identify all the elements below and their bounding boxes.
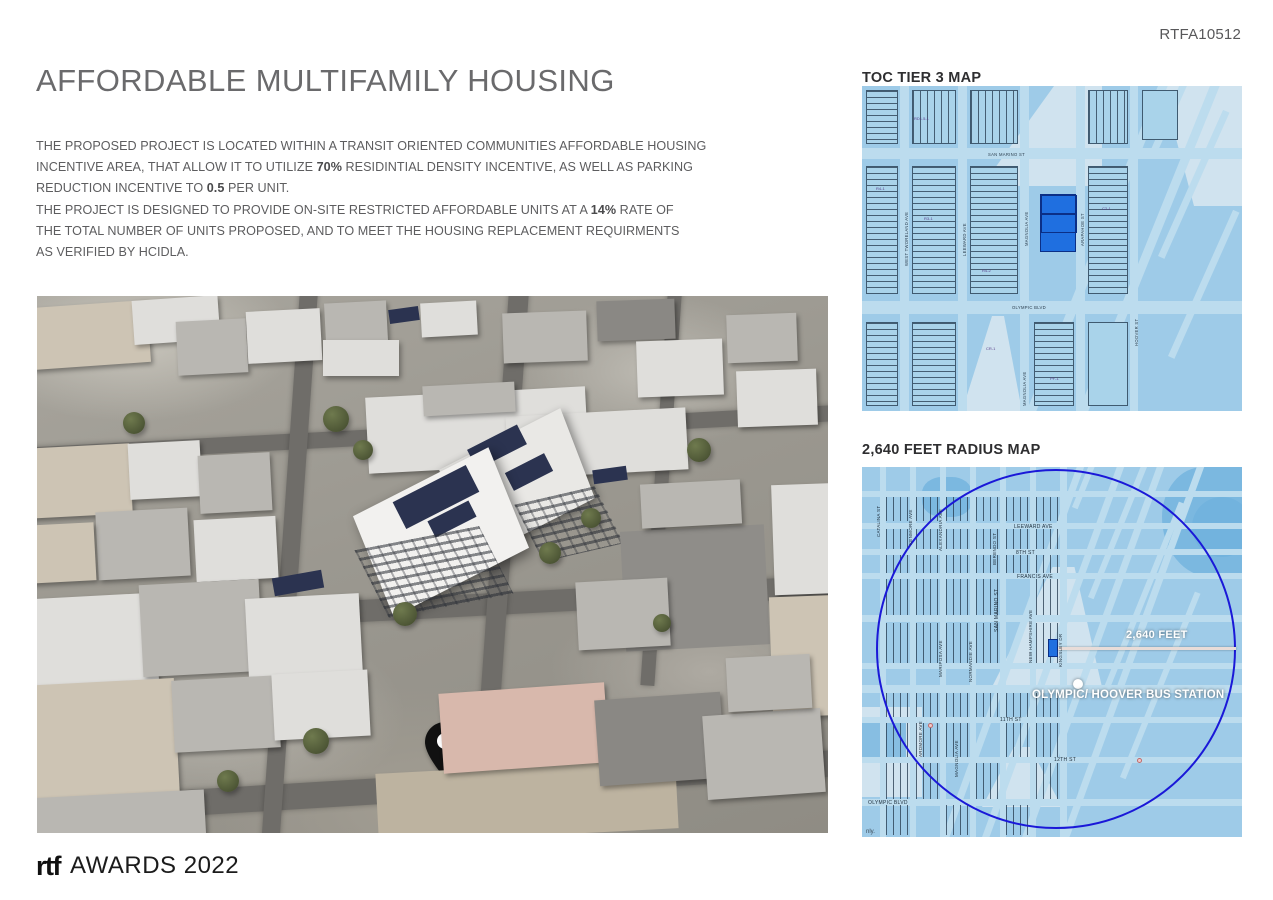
radius-street-label: 8TH ST — [1016, 550, 1035, 556]
aerial-building — [37, 522, 96, 584]
aerial-building — [771, 483, 828, 595]
radius-map: 2,640 FEET OLYMPIC/ HOOVER BUS STATION L… — [862, 467, 1242, 837]
aerial-building — [726, 313, 798, 363]
page-title: AFFORDABLE MULTIFAMILY HOUSING — [36, 63, 615, 99]
toc-zone-code: RD1.5-1 — [914, 116, 929, 121]
toc-lot-lines — [1089, 91, 1127, 143]
toc-street-label: HOOVER ST — [1134, 319, 1139, 346]
radius-street-label: BERENDO ST — [992, 533, 997, 565]
toc-lot-lines — [1035, 323, 1073, 405]
aerial-adjacent-roof — [422, 382, 515, 417]
aerial-site-photo — [37, 296, 828, 833]
toc-parcel-block — [1142, 90, 1178, 140]
aerial-building — [726, 654, 813, 712]
radius-street-label: KENMORE AVE — [908, 509, 913, 545]
affordable-rate-value: 14% — [591, 203, 616, 217]
toc-zone-code: R3-1 — [924, 216, 933, 221]
radius-street-label: SAN MARINO ST — [994, 589, 1000, 632]
aerial-tree — [123, 412, 145, 434]
aerial-building — [37, 443, 133, 518]
toc-lot-lines — [867, 91, 897, 143]
description-line-4: THE PROJECT IS DESIGNED TO PROVIDE ON-SI… — [36, 200, 736, 221]
toc-zone-code: PF-1 — [1050, 376, 1059, 381]
radius-street-label: NEW HAMPSHIRE AVE — [1028, 610, 1033, 663]
presentation-board: RTFA10512 AFFORDABLE MULTIFAMILY HOUSING… — [0, 0, 1273, 900]
toc-street-label: MAGNOLIA AVE — [1022, 372, 1027, 406]
radius-lot-lines — [886, 529, 910, 549]
radius-street-label: MAGNOLIA AVE — [954, 740, 959, 777]
aerial-tree — [539, 542, 561, 564]
toc-lot-lines — [971, 91, 1017, 143]
aerial-building — [128, 440, 203, 500]
aerial-building — [502, 311, 588, 364]
toc-street-label: LEEWARD AVE — [962, 223, 967, 256]
aerial-tree — [687, 438, 711, 462]
radius-distance-label: 2,640 FEET — [1126, 629, 1188, 641]
aerial-tree — [323, 406, 349, 432]
aerial-building — [736, 369, 818, 428]
toc-lot-lines — [867, 323, 897, 405]
radius-street-label: LEEWARD AVE — [1014, 524, 1053, 530]
toc-map-pale-area — [962, 316, 1022, 411]
radius-street-label: MARIPOSA AVE — [938, 640, 943, 677]
toc-street-olympic — [862, 301, 1242, 314]
toc-parcel-block — [1088, 322, 1128, 406]
radius-street-label: NORMANDIE AVE — [968, 641, 973, 682]
radius-lot-lines — [886, 763, 910, 799]
description-line-1: THE PROPOSED PROJECT IS LOCATED WITHIN A… — [36, 136, 736, 157]
aerial-building — [575, 578, 670, 651]
rtf-logo: rtf — [36, 853, 60, 880]
aerial-building — [176, 318, 249, 376]
toc-street-label: MAGNOLIA AVE — [1024, 212, 1029, 246]
radius-map-canvas: 2,640 FEET OLYMPIC/ HOOVER BUS STATION L… — [862, 467, 1242, 837]
aerial-tree — [393, 602, 417, 626]
radius-street-label: 11TH ST — [1000, 717, 1022, 723]
radius-street-label: 12TH ST — [1054, 757, 1076, 763]
radius-street-label: ARDMORE AVE — [918, 721, 923, 757]
toc-lot-lines — [971, 167, 1017, 293]
project-description: THE PROPOSED PROJECT IS LOCATED WITHIN A… — [36, 136, 736, 263]
map-attribution: nly. — [866, 829, 875, 835]
radius-measure-line — [1058, 647, 1236, 650]
aerial-building — [596, 299, 675, 342]
radius-lot-lines — [886, 805, 910, 835]
toc-street-vertical — [1076, 86, 1085, 411]
radius-street-label: ALEXANDRIA AVE — [938, 509, 943, 551]
aerial-building — [702, 708, 826, 800]
radius-poi-marker-icon — [928, 723, 933, 728]
toc-street-vertical — [1130, 86, 1138, 411]
aerial-building-pink — [438, 682, 609, 773]
toc-street-label: SAN MARINO ST — [988, 152, 1025, 157]
parking-ratio-value: 0.5 — [207, 181, 225, 195]
radius-street-label: FRANCIS AVE — [1017, 574, 1053, 580]
density-incentive-value: 70% — [317, 160, 342, 174]
aerial-building — [636, 339, 724, 398]
aerial-tree — [303, 728, 329, 754]
toc-street-label: ARAPAHOE ST — [1080, 213, 1085, 246]
document-id: RTFA10512 — [1159, 26, 1241, 43]
toc-lot-lines — [913, 323, 955, 405]
bus-station-label: OLYMPIC/ HOOVER BUS STATION — [1032, 689, 1224, 701]
awards-text: AWARDS 2022 — [70, 852, 239, 880]
aerial-building — [420, 301, 478, 338]
footer: rtf AWARDS 2022 — [36, 852, 239, 880]
toc-street-vertical — [1020, 86, 1029, 411]
aerial-tree — [653, 614, 671, 632]
radius-street-label: KINGSLEY DR — [1058, 634, 1063, 667]
toc-street-diagonal — [1168, 210, 1239, 359]
description-line-3: REDUCTION INCENTIVE TO 0.5 PER UNIT. — [36, 178, 736, 199]
aerial-tree — [217, 770, 239, 792]
toc-zone-code: C2-1 — [1102, 206, 1111, 211]
aerial-building — [139, 579, 264, 677]
description-line-2: INCENTIVE AREA, THAT ALLOW IT TO UTILIZE… — [36, 157, 736, 178]
aerial-building-large — [37, 678, 180, 806]
description-line-5: THE TOTAL NUMBER OF UNITS PROPOSED, AND … — [36, 221, 736, 242]
aerial-tree — [353, 440, 373, 460]
aerial-building — [323, 340, 399, 376]
aerial-building — [198, 452, 273, 514]
toc-street-label: OLYMPIC BLVD — [1012, 305, 1046, 310]
aerial-building — [37, 789, 206, 833]
toc-street-label: WEST TWORELAND AVE — [904, 212, 909, 266]
aerial-building — [246, 308, 323, 364]
bus-station-marker-icon[interactable] — [1073, 679, 1083, 689]
toc-map-canvas: SAN MARINO ST OLYMPIC BLVD WEST TWORELAN… — [862, 86, 1242, 411]
project-parcel-highlight[interactable] — [1040, 194, 1076, 252]
radius-lot-lines — [946, 805, 970, 835]
description-line-6: AS VERIFIED BY HCIDLA. — [36, 242, 736, 263]
toc-zone-code: CR-1 — [986, 346, 995, 351]
radius-map-title: 2,640 FEET RADIUS MAP — [862, 442, 1041, 458]
radius-street-label: OLYMPIC BLVD — [868, 800, 908, 806]
toc-lot-lines — [913, 167, 955, 293]
aerial-building — [193, 516, 278, 582]
toc-zone-code: R4-1 — [876, 186, 885, 191]
radius-poi-marker-icon — [1137, 758, 1142, 763]
aerial-building — [640, 479, 742, 528]
aerial-tree — [581, 508, 601, 528]
radius-street-label: CATALINA ST — [876, 506, 881, 537]
radius-lot-lines — [886, 497, 910, 521]
toc-zone-code: R4-2 — [982, 268, 991, 273]
toc-tier-3-map: SAN MARINO ST OLYMPIC BLVD WEST TWORELAN… — [862, 86, 1242, 411]
aerial-building — [171, 675, 281, 752]
aerial-building — [95, 508, 190, 581]
toc-map-title: TOC TIER 3 MAP — [862, 70, 981, 86]
toc-lot-lines — [1089, 167, 1127, 293]
aerial-building — [324, 300, 388, 343]
